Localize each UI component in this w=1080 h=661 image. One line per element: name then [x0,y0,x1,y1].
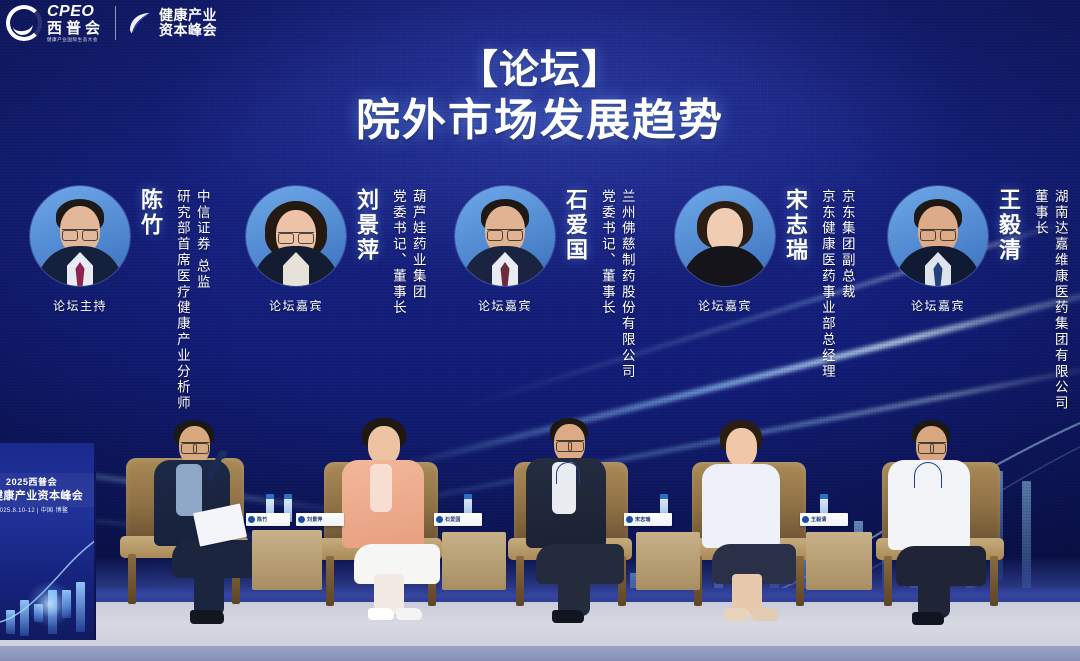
side-table [252,530,322,590]
bottle-cap [284,494,292,499]
panelist-org: 京东集团副总裁 [839,189,854,380]
panelist-org: 湖南达嘉维康医药集团有限公司 [1052,189,1067,412]
podium-line3: 2025.8.10-12 | 中国·博鳌 [0,505,68,514]
panelist-role: 论坛嘉宾 [478,297,532,314]
panelist-role: 论坛嘉宾 [911,297,965,314]
panelist-role: 论坛嘉宾 [269,297,323,314]
bottle-cap [266,494,274,499]
cpeo-logo: CPEO 西普会 健康产业国际生态大会 [6,4,104,43]
lanyard-icon [556,462,580,484]
cpeo-ring-icon [6,5,42,41]
leaf-icon [127,10,153,36]
avatar [455,186,555,286]
logo-divider [115,6,116,40]
placard-name: 宋志瑞 [635,516,651,523]
panelist-org: 中信证券 总监 [194,189,209,412]
panelist-title: 董事长 [1032,189,1047,412]
placard-name: 刘景萍 [307,516,323,523]
avatar [30,186,130,286]
bottle-cap [660,494,668,499]
seated-person-panelist-4 [886,420,1006,618]
placard-logo-icon [298,516,305,523]
placard-logo-icon [248,516,255,523]
panelist-title: 党委书记、董事长 [599,189,614,380]
microphone-head [218,450,227,459]
panelist-org: 葫芦娃药业集团 [410,189,425,316]
avatar [675,186,775,286]
placard-name: 陈竹 [257,516,267,523]
event-logo-lockup: CPEO 西普会 健康产业国际生态大会 健康产业 资本峰会 [0,0,217,43]
forum-title-line1: 【论坛】 [0,48,1080,93]
placard-logo-icon [802,516,809,523]
panelist-strip: 论坛主持 陈竹 中信证券 总监 研究部首席医疗健康产业分析师 论坛嘉宾 刘景萍 [0,186,1080,426]
side-table [442,532,506,590]
cpeo-logo-en: CPEO [47,4,104,20]
side-table [636,532,700,590]
name-placard: 石爱国 [434,513,482,526]
bottle-cap [464,494,472,499]
name-placard: 陈竹 [246,513,290,526]
panelist-role: 论坛主持 [53,297,107,314]
panelist-card-2: 论坛嘉宾 石爱国 兰州佛慈制药股份有限公司 党委书记、董事长 [455,186,634,380]
cpeo-logo-sub: 健康产业国际生态大会 [47,38,104,43]
health-logo-line2: 资本峰会 [159,23,217,39]
placard-logo-icon [626,516,633,523]
panelist-title: 京东健康医药事业部总经理 [819,189,834,380]
name-placard: 宋志瑞 [624,513,672,526]
panelist-role: 论坛嘉宾 [698,297,752,314]
podium-glow [28,582,72,626]
panelist-name: 宋志瑞 [784,188,806,263]
panelist-card-0: 论坛主持 陈竹 中信证券 总监 研究部首席医疗健康产业分析师 [30,186,209,412]
panelist-title: 研究部首席医疗健康产业分析师 [174,189,189,412]
cpeo-logo-cn: 西普会 [47,21,104,36]
bottle-cap [820,494,828,499]
lanyard-icon [914,462,942,488]
panelist-title: 党委书记、董事长 [390,189,405,316]
panelist-org: 兰州佛慈制药股份有限公司 [619,189,634,380]
avatar [246,186,346,286]
stage-floor-edge [0,646,1080,661]
health-summit-logo: 健康产业 资本峰会 [127,8,217,39]
health-logo-line1: 健康产业 [159,8,217,24]
placard-logo-icon [436,516,443,523]
podium-line2: 健康产业资本峰会 [0,487,83,503]
avatar [888,186,988,286]
panelist-name: 刘景萍 [355,188,377,263]
panelist-card-4: 论坛嘉宾 王毅清 湖南达嘉维康医药集团有限公司 董事长 [888,186,1067,412]
side-table [806,532,872,590]
placard-name: 石爱国 [445,516,461,523]
panelist-card-3: 论坛嘉宾 宋志瑞 京东集团副总裁 京东健康医药事业部总经理 [675,186,854,380]
name-placard: 王毅清 [800,513,848,526]
podium-banner: 2025西普会 健康产业资本峰会 2025.8.10-12 | 中国·博鳌 [0,443,96,640]
panelist-name: 陈竹 [139,188,161,238]
forum-title-block: 【论坛】 院外市场发展趋势 [0,48,1080,147]
name-placard: 刘景萍 [296,513,344,526]
conference-stage-photo: CPEO 西普会 健康产业国际生态大会 健康产业 资本峰会 【论坛】 院外市场发… [0,0,1080,661]
panelist-name: 王毅清 [997,188,1019,263]
panelist-name: 石爱国 [564,188,586,263]
placard-name: 王毅清 [811,516,827,523]
panelist-card-1: 论坛嘉宾 刘景萍 葫芦娃药业集团 党委书记、董事长 [246,186,425,316]
forum-title-line2: 院外市场发展趋势 [0,95,1080,147]
